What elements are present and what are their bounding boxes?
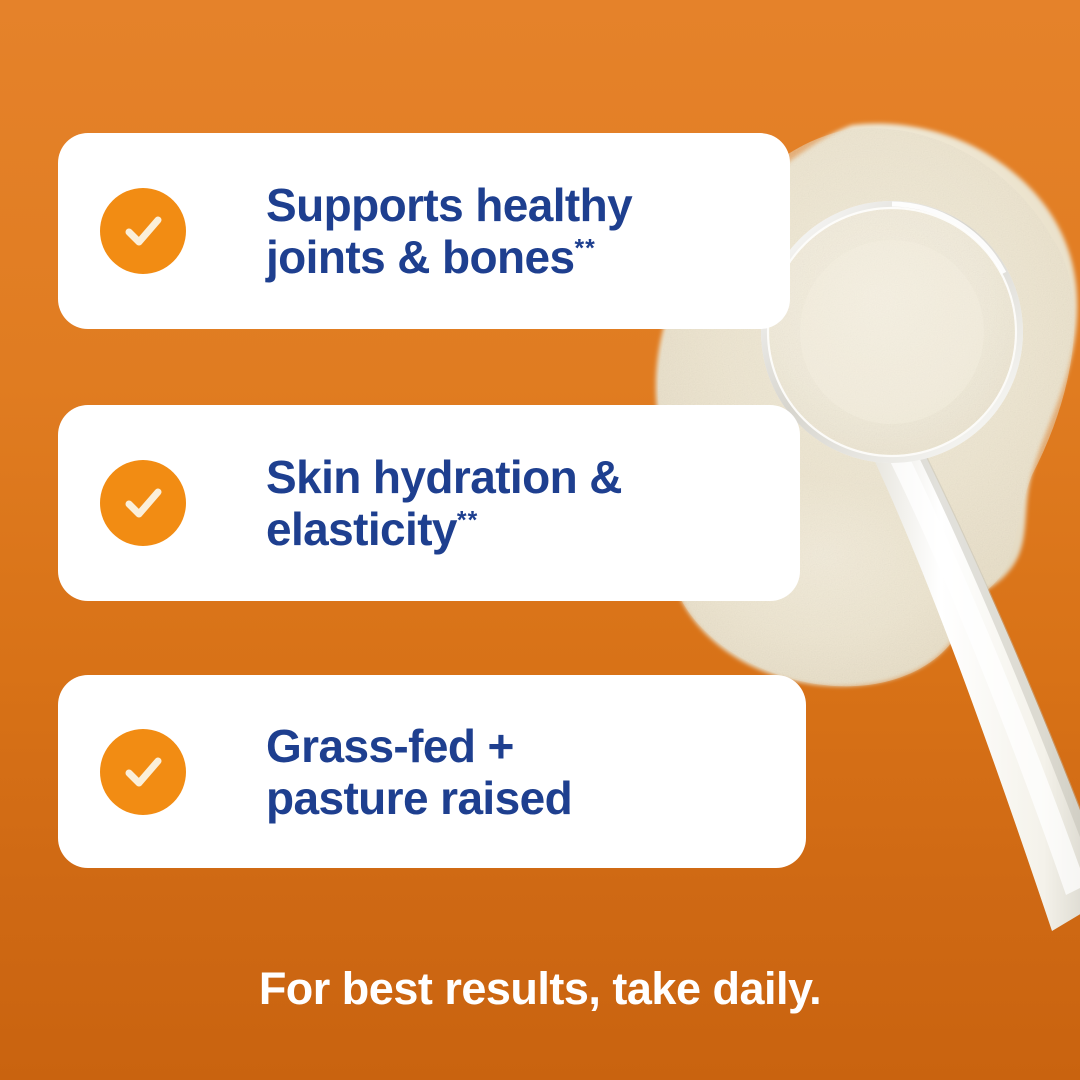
benefit-line-1: Supports healthy xyxy=(266,179,632,231)
benefit-line-2: joints & bones xyxy=(266,231,575,283)
tagline: For best results, take daily. xyxy=(0,963,1080,1015)
benefit-card-joints: Supports healthy joints & bones** xyxy=(58,133,790,329)
benefit-card-grass-fed: Grass-fed + pasture raised xyxy=(58,675,806,868)
check-icon xyxy=(100,729,186,815)
scoop-handle xyxy=(868,441,1080,931)
check-icon xyxy=(100,460,186,546)
benefit-line-1: Skin hydration & xyxy=(266,451,622,503)
check-icon xyxy=(100,188,186,274)
product-benefits-graphic: Supports healthy joints & bones** Skin h… xyxy=(0,0,1080,1080)
benefit-text: Supports healthy joints & bones** xyxy=(266,179,766,283)
benefit-footnote: ** xyxy=(575,236,596,263)
measuring-scoop xyxy=(761,201,1023,463)
benefit-line-2: elasticity xyxy=(266,503,457,555)
benefit-line-1: Grass-fed + xyxy=(266,720,514,772)
benefit-line-2: pasture raised xyxy=(266,772,572,824)
benefit-text: Skin hydration & elasticity** xyxy=(266,451,776,555)
benefit-card-skin: Skin hydration & elasticity** xyxy=(58,405,800,601)
benefit-text: Grass-fed + pasture raised xyxy=(266,720,782,824)
benefit-footnote: ** xyxy=(457,508,478,535)
